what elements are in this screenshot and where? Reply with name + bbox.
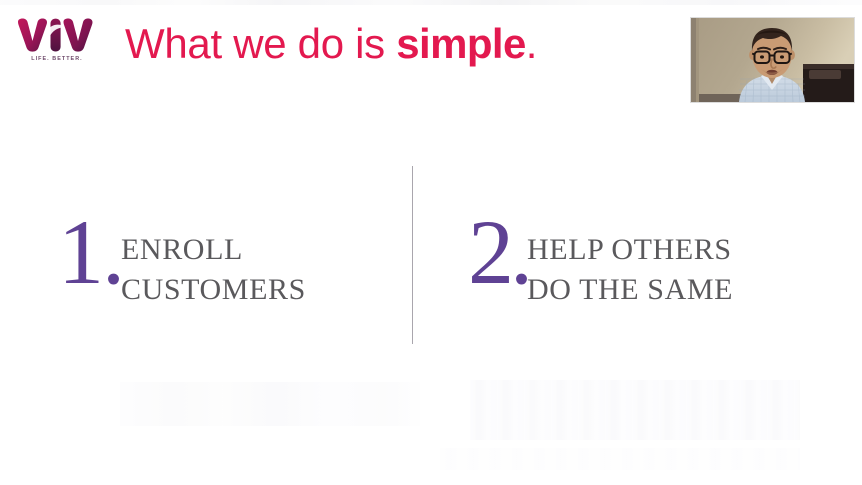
- point-label-2-line-2: DO THE SAME: [527, 270, 733, 310]
- list-item: 1. ENROLL CUSTOMERS: [58, 204, 306, 310]
- viv-logo: LIFE. BETTER.: [16, 18, 100, 74]
- viv-wordmark-icon: [16, 18, 94, 52]
- presentation-slide: LIFE. BETTER. What we do is simple.: [0, 0, 862, 485]
- page-title: What we do is simple.: [125, 18, 537, 70]
- headline-bold-part: simple: [396, 20, 525, 67]
- bottom-ghost-artifact-left: [120, 382, 420, 426]
- webcam-video-frame: [691, 18, 854, 102]
- bottom-ghost-artifact-strip: [440, 448, 800, 470]
- point-label-2: HELP OTHERS DO THE SAME: [527, 230, 733, 310]
- bottom-ghost-artifact-right: [470, 380, 800, 440]
- point-number-1: 1.: [58, 206, 123, 298]
- point-label-1: ENROLL CUSTOMERS: [121, 230, 306, 310]
- presenter-webcam-overlay[interactable]: [690, 17, 855, 103]
- top-edge-artifact: [0, 0, 862, 5]
- headline-normal-part: What we do is: [125, 20, 396, 67]
- headline-period: .: [526, 20, 537, 67]
- vertical-divider: [412, 166, 413, 344]
- point-label-1-line-2: CUSTOMERS: [121, 270, 306, 310]
- point-label-1-line-1: ENROLL: [121, 230, 306, 270]
- point-label-2-line-1: HELP OTHERS: [527, 230, 733, 270]
- list-item: 2. HELP OTHERS DO THE SAME: [468, 204, 733, 310]
- logo-tagline: LIFE. BETTER.: [18, 56, 96, 62]
- point-number-2: 2.: [468, 206, 529, 298]
